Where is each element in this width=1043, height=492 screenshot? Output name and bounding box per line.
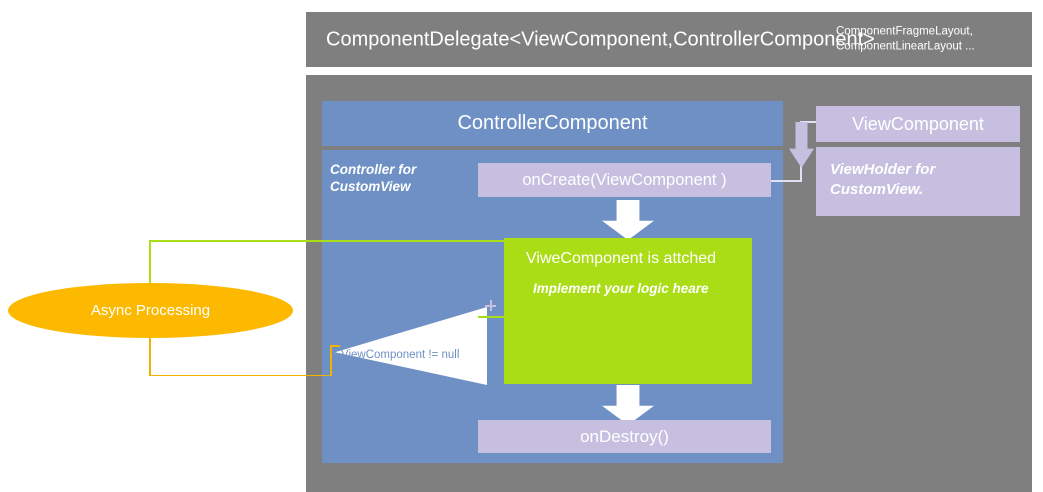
plus-icon-vertical [490,300,492,311]
view-component-body: ViewHolder for CustomView. [816,147,1020,216]
viewcomponent-attached-box: ViweComponent is attched Implement your … [504,238,752,384]
view-component-body-text: ViewHolder for CustomView. [830,160,1010,199]
connector-decision-entry-vertical [330,345,332,376]
diagram-canvas: ComponentDelegate<ViewComponent,Controll… [0,0,1043,492]
connector-oncreate-to-viewcomponent [771,180,802,182]
ondestroy-box[interactable]: onDestroy() [478,420,771,453]
controller-header-divider [322,146,783,150]
connector-async-to-decision-horizontal [149,375,331,377]
decision-condition-label: ViewComponent != null [341,349,459,361]
connector-async-to-attached-horizontal [149,240,505,242]
component-delegate-subtitle: ComponentFragmeLayout, ComponentLinearLa… [836,24,975,55]
connector-attached-entry [478,316,505,318]
oncreate-box[interactable]: onCreate(ViewComponent ) [478,163,771,197]
controller-note-label: Controller for CustomView [330,162,470,196]
async-processing-label: Async Processing [8,283,293,338]
component-delegate-title: ComponentDelegate<ViewComponent,Controll… [326,28,875,51]
component-delegate-header: ComponentDelegate<ViewComponent,Controll… [306,12,1032,67]
viewcomponent-attached-subtitle: Implement your logic heare [533,280,713,298]
async-processing-ellipse[interactable]: Async Processing [8,283,293,338]
viewcomponent-attached-title: ViweComponent is attched [526,250,716,268]
view-component-title: ViewComponent [816,106,1020,142]
connector-decision-entry-tip [330,345,340,347]
controller-component-title: ControllerComponent [322,101,783,145]
